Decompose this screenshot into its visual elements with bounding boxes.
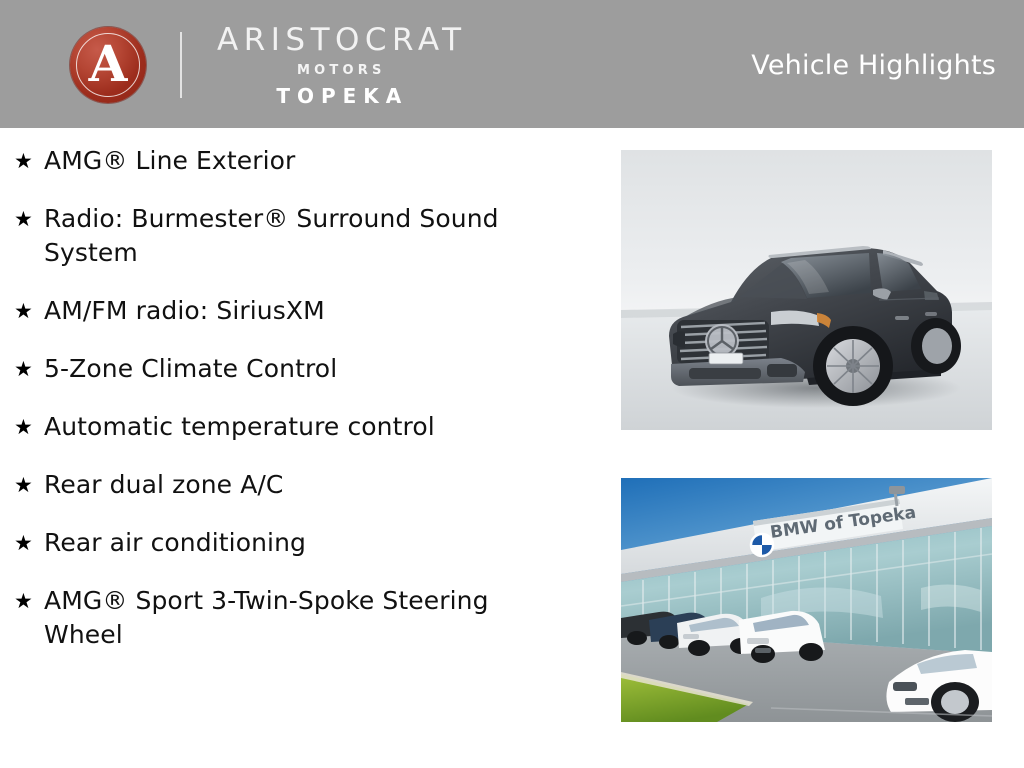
- list-item: ★ AM/FM radio: SiriusXM: [0, 294, 600, 328]
- list-item: ★ Rear air conditioning: [0, 526, 600, 560]
- wordmark-city: TOPEKA: [270, 86, 408, 106]
- list-item-label: Rear dual zone A/C: [44, 468, 283, 502]
- dealership-photo-illustration: BMW of Topeka: [621, 478, 992, 722]
- list-item-label: Radio: Burmester® Surround Sound System: [44, 202, 574, 270]
- page-header: A ARISTOCRAT MOTORS TOPEKA Vehicle Highl…: [0, 0, 1024, 128]
- star-bullet-icon: ★: [14, 584, 44, 618]
- star-bullet-icon: ★: [14, 468, 44, 502]
- list-item-label: Rear air conditioning: [44, 526, 306, 560]
- logo-letter: A: [70, 27, 146, 103]
- bmw-roundel-icon: [751, 534, 773, 556]
- dealer-plate: [709, 353, 743, 364]
- aristocrat-monogram-icon: A: [70, 27, 146, 103]
- vehicle-photo-illustration: [621, 150, 992, 430]
- list-item: ★ Radio: Burmester® Surround Sound Syste…: [0, 202, 600, 270]
- page-title: Vehicle Highlights: [751, 50, 996, 81]
- list-item-label: Automatic temperature control: [44, 410, 435, 444]
- star-bullet-icon: ★: [14, 144, 44, 178]
- vehicle-photo: [621, 150, 992, 430]
- brand-divider: [180, 32, 182, 98]
- rear-wheel: [911, 318, 961, 374]
- star-bullet-icon: ★: [14, 352, 44, 386]
- star-bullet-icon: ★: [14, 410, 44, 444]
- list-item-label: AMG® Line Exterior: [44, 144, 295, 178]
- list-item-label: AM/FM radio: SiriusXM: [44, 294, 325, 328]
- list-item-label: AMG® Sport 3-Twin-Spoke Steering Wheel: [44, 584, 574, 652]
- wordmark-sub: MOTORS: [293, 64, 385, 77]
- list-item: ★ Automatic temperature control: [0, 410, 600, 444]
- list-item-label: 5-Zone Climate Control: [44, 352, 337, 386]
- list-item: ★ AMG® Sport 3-Twin-Spoke Steering Wheel: [0, 584, 600, 652]
- front-wheel: [813, 326, 893, 406]
- list-item: ★ Rear dual zone A/C: [0, 468, 600, 502]
- brand-wordmark: ARISTOCRAT MOTORS TOPEKA: [212, 25, 467, 106]
- brand-lockup: A ARISTOCRAT MOTORS TOPEKA: [70, 28, 467, 102]
- star-bullet-icon: ★: [14, 526, 44, 560]
- star-bullet-icon: ★: [14, 294, 44, 328]
- list-item: ★ 5-Zone Climate Control: [0, 352, 600, 386]
- dealership-photo: BMW of Topeka: [621, 478, 992, 722]
- wordmark-main: ARISTOCRAT: [212, 25, 467, 56]
- vehicle-highlights-list: ★ AMG® Line Exterior ★ Radio: Burmester®…: [0, 144, 600, 652]
- star-bullet-icon: ★: [14, 202, 44, 236]
- list-item: ★ AMG® Line Exterior: [0, 144, 600, 178]
